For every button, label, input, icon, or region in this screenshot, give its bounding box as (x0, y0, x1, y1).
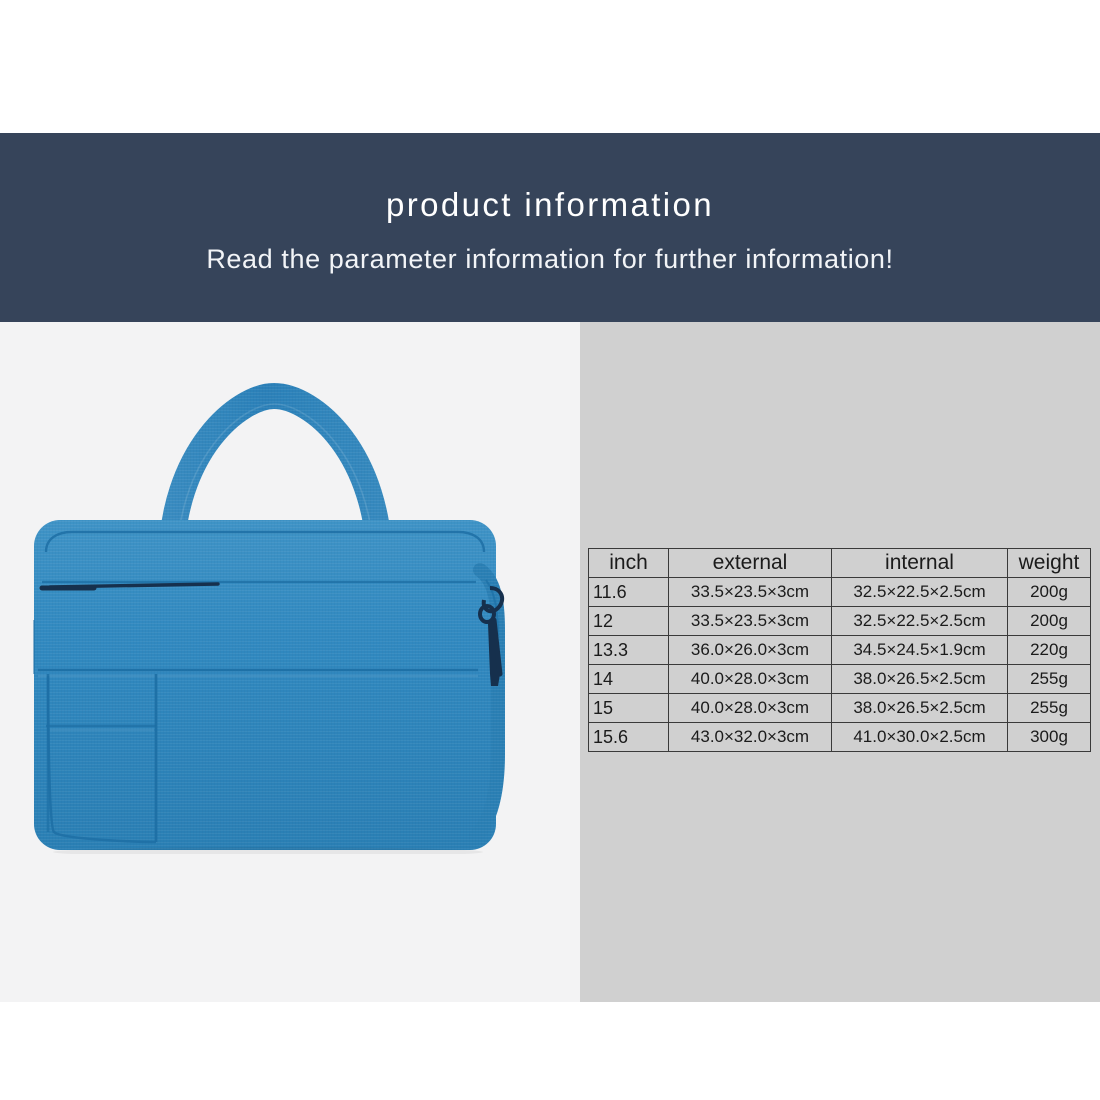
column-header-external: external (669, 549, 832, 578)
specification-table: inch external internal weight 11.6 33.5×… (588, 548, 1091, 752)
banner: product information Read the parameter i… (0, 133, 1100, 322)
table-row: 15 40.0×28.0×3cm 38.0×26.5×2.5cm 255g (589, 694, 1091, 723)
cell-weight: 255g (1008, 694, 1091, 723)
page-subtitle: Read the parameter information for furth… (206, 245, 893, 275)
table-row: 15.6 43.0×32.0×3cm 41.0×30.0×2.5cm 300g (589, 723, 1091, 752)
cell-weight: 200g (1008, 578, 1091, 607)
cell-external: 40.0×28.0×3cm (669, 665, 832, 694)
cell-external: 33.5×23.5×3cm (669, 578, 832, 607)
bag-body (34, 520, 496, 850)
column-header-inch: inch (589, 549, 669, 578)
cell-inch: 13.3 (589, 636, 669, 665)
bag-illustration (0, 322, 580, 1002)
product-image-panel (0, 322, 580, 1002)
cell-weight: 255g (1008, 665, 1091, 694)
cell-inch: 12 (589, 607, 669, 636)
cell-external: 36.0×26.0×3cm (669, 636, 832, 665)
cell-internal: 34.5×24.5×1.9cm (832, 636, 1008, 665)
cell-internal: 38.0×26.5×2.5cm (832, 665, 1008, 694)
cell-internal: 32.5×22.5×2.5cm (832, 607, 1008, 636)
cell-internal: 32.5×22.5×2.5cm (832, 578, 1008, 607)
cell-external: 43.0×32.0×3cm (669, 723, 832, 752)
product-information-page: product information Read the parameter i… (0, 0, 1100, 1100)
cell-internal: 41.0×30.0×2.5cm (832, 723, 1008, 752)
spec-table-panel: inch external internal weight 11.6 33.5×… (580, 322, 1100, 1002)
cell-inch: 14 (589, 665, 669, 694)
content-area: inch external internal weight 11.6 33.5×… (0, 322, 1100, 1002)
cell-weight: 300g (1008, 723, 1091, 752)
table-row: 13.3 36.0×26.0×3cm 34.5×24.5×1.9cm 220g (589, 636, 1091, 665)
column-header-weight: weight (1008, 549, 1091, 578)
cell-external: 40.0×28.0×3cm (669, 694, 832, 723)
table-row: 11.6 33.5×23.5×3cm 32.5×22.5×2.5cm 200g (589, 578, 1091, 607)
cell-internal: 38.0×26.5×2.5cm (832, 694, 1008, 723)
page-title: product information (386, 187, 714, 223)
cell-weight: 200g (1008, 607, 1091, 636)
cell-weight: 220g (1008, 636, 1091, 665)
cell-external: 33.5×23.5×3cm (669, 607, 832, 636)
column-header-internal: internal (832, 549, 1008, 578)
table-row: 12 33.5×23.5×3cm 32.5×22.5×2.5cm 200g (589, 607, 1091, 636)
cell-inch: 15 (589, 694, 669, 723)
cell-inch: 15.6 (589, 723, 669, 752)
table-header-row: inch external internal weight (589, 549, 1091, 578)
table-row: 14 40.0×28.0×3cm 38.0×26.5×2.5cm 255g (589, 665, 1091, 694)
laptop-bag-icon (28, 374, 540, 854)
cell-inch: 11.6 (589, 578, 669, 607)
bag-front-pocket (36, 590, 478, 676)
